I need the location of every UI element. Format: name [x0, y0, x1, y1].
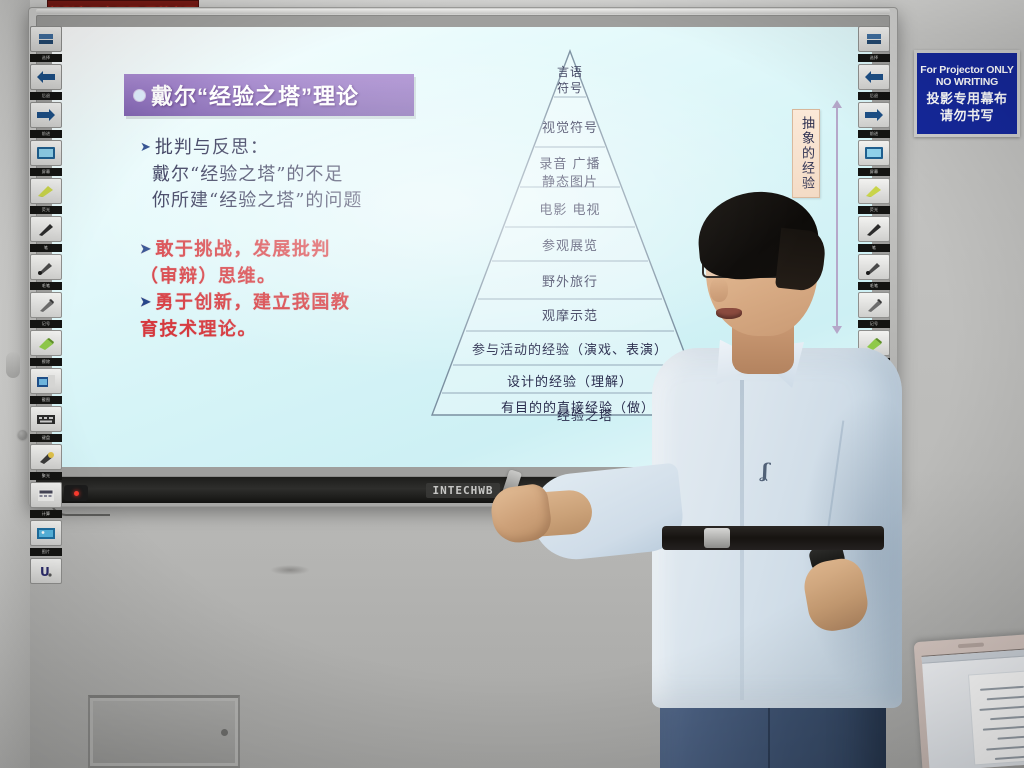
body-line: 敢于挑战，发展批判 [140, 237, 460, 264]
spotlight-icon[interactable] [30, 444, 62, 470]
tool-label: 后退 [30, 92, 62, 100]
tool-label: 擦除 [30, 358, 62, 366]
tool-label: 毛笔 [30, 282, 62, 290]
pyramid-level-label-sub: 静态图片 [542, 171, 598, 190]
blue-sign-line4: 请勿书写 [940, 108, 994, 123]
brush-icon[interactable] [30, 254, 62, 280]
slide-body: 批判与反思： 戴尔“经验之塔”的不足 你所建“经验之塔”的问题 敢于挑战，发展批… [140, 135, 460, 343]
tool-label: 选择 [858, 54, 890, 62]
tool-label: 屏幕 [30, 168, 62, 176]
document-text-line [980, 686, 1024, 691]
laptop-document [969, 671, 1024, 764]
svg-text:U: U [40, 565, 50, 579]
body-line: 育技术理论。 [140, 317, 460, 344]
tool-label: 计算 [30, 510, 62, 518]
wall-screw [18, 430, 27, 439]
select-arrow-icon[interactable] [30, 26, 62, 52]
back-arrow-icon[interactable] [858, 64, 890, 90]
classroom-scene: 投影专用电子屏 严禁书写 For Projector ONLY NO WRITI… [0, 0, 1024, 768]
pyramid-caption: 经验之塔 [557, 405, 613, 424]
presenter-belt [662, 526, 884, 550]
pyramid-level-label: 录音 广播 [539, 153, 600, 172]
forward-arrow-icon[interactable] [858, 102, 890, 128]
document-text-line [983, 726, 1024, 731]
tool-label: 前进 [858, 130, 890, 138]
body-line: （审辩）思维。 [140, 264, 460, 291]
highlighter-icon[interactable] [30, 178, 62, 204]
tool-label: 键盘 [30, 434, 62, 442]
pen-icon[interactable] [30, 216, 62, 242]
blue-sign-line3: 投影专用幕布 [926, 91, 1007, 106]
whiteboard-top-highlight [36, 9, 890, 14]
presenter: ʆ [620, 170, 920, 768]
pyramid-level-label: 视觉符号 [542, 117, 598, 136]
document-text-line [997, 736, 1024, 740]
pyramid-level-label: 野外旅行 [542, 271, 598, 290]
screen-icon[interactable] [858, 140, 890, 166]
keyboard-icon[interactable] [30, 406, 62, 432]
wall-fixture [6, 352, 20, 378]
photo-icon[interactable] [30, 520, 62, 546]
presenter-hair-side [775, 228, 827, 292]
body-line: 戴尔“经验之塔”的不足 [140, 162, 460, 189]
pyramid-level-label: 言语 [557, 63, 583, 80]
slide-title-bar: 戴尔“经验之塔”理论 [124, 74, 414, 116]
capture-icon[interactable] [30, 368, 62, 394]
pyramid-level-label: 观摩示范 [542, 305, 598, 324]
forward-arrow-icon[interactable] [30, 102, 62, 128]
presenter-nose [710, 278, 728, 302]
tool-label: 记号 [30, 320, 62, 328]
tool-label: 截图 [30, 396, 62, 404]
blue-sign-line2: NO WRITING [936, 76, 998, 88]
body-line: 你所建“经验之塔”的问题 [140, 188, 460, 215]
shirt-logo: ʆ [762, 460, 768, 482]
document-text-line [986, 746, 1024, 751]
tool-label: 选择 [30, 54, 62, 62]
tool-label: 图片 [30, 548, 62, 556]
panel-latch-icon [221, 729, 228, 736]
projector-warning-sign: For Projector ONLY NO WRITING 投影专用幕布 请勿书… [914, 50, 1020, 137]
marker-icon[interactable] [30, 292, 62, 318]
tool-label: 聚光 [30, 472, 62, 480]
brand-text: INTECHWB [426, 483, 501, 498]
document-text-line [987, 696, 1024, 701]
body-line: 勇于创新，建立我国教 [140, 290, 460, 317]
body-line: 批判与反思： [140, 135, 460, 162]
document-text-line [990, 716, 1024, 721]
back-arrow-icon[interactable] [30, 64, 62, 90]
screen-icon[interactable] [30, 140, 62, 166]
slide-body-highlight: 敢于挑战，发展批判 （审辩）思维。 勇于创新，建立我国教 育技术理论。 [140, 237, 460, 344]
belt-buckle [704, 528, 730, 548]
laptop[interactable] [914, 634, 1024, 768]
usb-icon[interactable]: U [30, 558, 62, 584]
select-arrow-icon[interactable] [858, 26, 890, 52]
pyramid-level-label: 设计的经验（理解） [507, 371, 633, 390]
laptop-screen[interactable] [922, 648, 1024, 768]
wall-access-panel [88, 695, 240, 768]
whiteboard-toolbar-left[interactable]: 选择 后退 前进 屏幕 荧光 笔 毛笔 记号 擦 [30, 26, 62, 584]
slide-title: 戴尔“经验之塔”理论 [151, 79, 359, 111]
presenter-mouth [716, 308, 742, 319]
blue-sign-line1: For Projector ONLY [920, 64, 1013, 76]
pyramid-level-label: 电影 电视 [539, 199, 600, 218]
bullet-dot-icon [134, 90, 145, 101]
body-spacer [140, 215, 460, 237]
wall-smudge [270, 565, 310, 575]
document-text-line [979, 706, 1024, 711]
tool-label: 笔 [30, 244, 62, 252]
document-text-line [995, 756, 1024, 760]
tool-label: 前进 [30, 130, 62, 138]
pyramid-level-label: 参观展览 [542, 235, 598, 254]
calculator-icon[interactable] [30, 482, 62, 508]
pyramid-level-label-sub: 符号 [557, 79, 583, 96]
tool-label: 后退 [858, 92, 890, 100]
eraser-icon[interactable] [30, 330, 62, 356]
tool-label: 荧光 [30, 206, 62, 214]
